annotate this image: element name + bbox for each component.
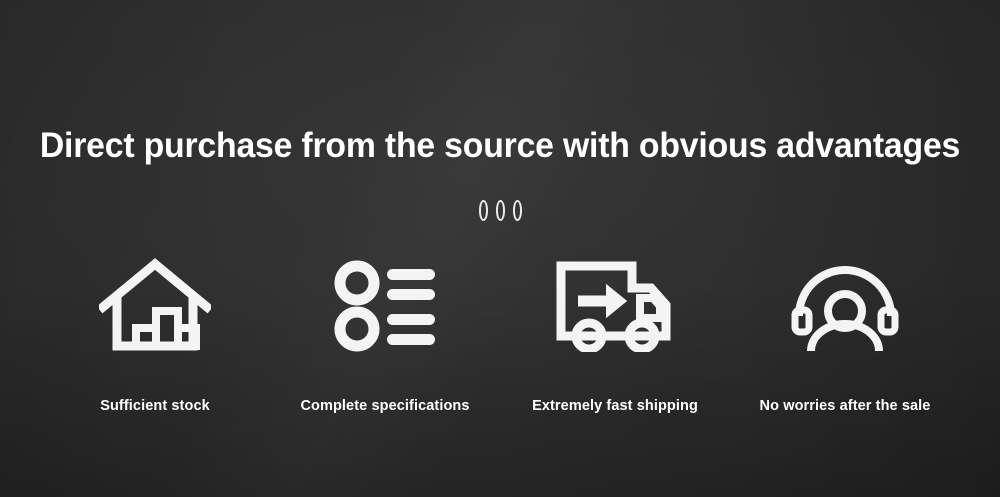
promo-banner: Direct purchase from the source with obv…	[0, 0, 1000, 497]
delivery-truck-icon	[556, 252, 674, 356]
customer-support-headset-icon	[790, 252, 900, 356]
divider-dash-2	[496, 200, 505, 221]
page-title: Direct purchase from the source with obv…	[18, 126, 983, 166]
warehouse-stock-icon	[99, 252, 211, 356]
feature-label: Extremely fast shipping	[532, 398, 698, 414]
feature-label: Sufficient stock	[100, 398, 210, 414]
feature-list: Sufficient stock Complete specificat	[40, 252, 960, 414]
feature-item-sufficient-stock: Sufficient stock	[40, 252, 270, 414]
specification-list-icon	[329, 252, 441, 356]
feature-item-fast-shipping: Extremely fast shipping	[500, 252, 730, 414]
feature-label: Complete specifications	[300, 398, 469, 414]
divider-dash-3	[513, 200, 522, 221]
feature-item-after-sale-support: No worries after the sale	[730, 252, 960, 414]
feature-label: No worries after the sale	[760, 398, 931, 414]
triple-dash-divider	[0, 199, 1000, 221]
divider-dash-1	[479, 200, 488, 221]
background-vignette	[0, 0, 1000, 497]
feature-item-complete-specifications: Complete specifications	[270, 252, 500, 414]
